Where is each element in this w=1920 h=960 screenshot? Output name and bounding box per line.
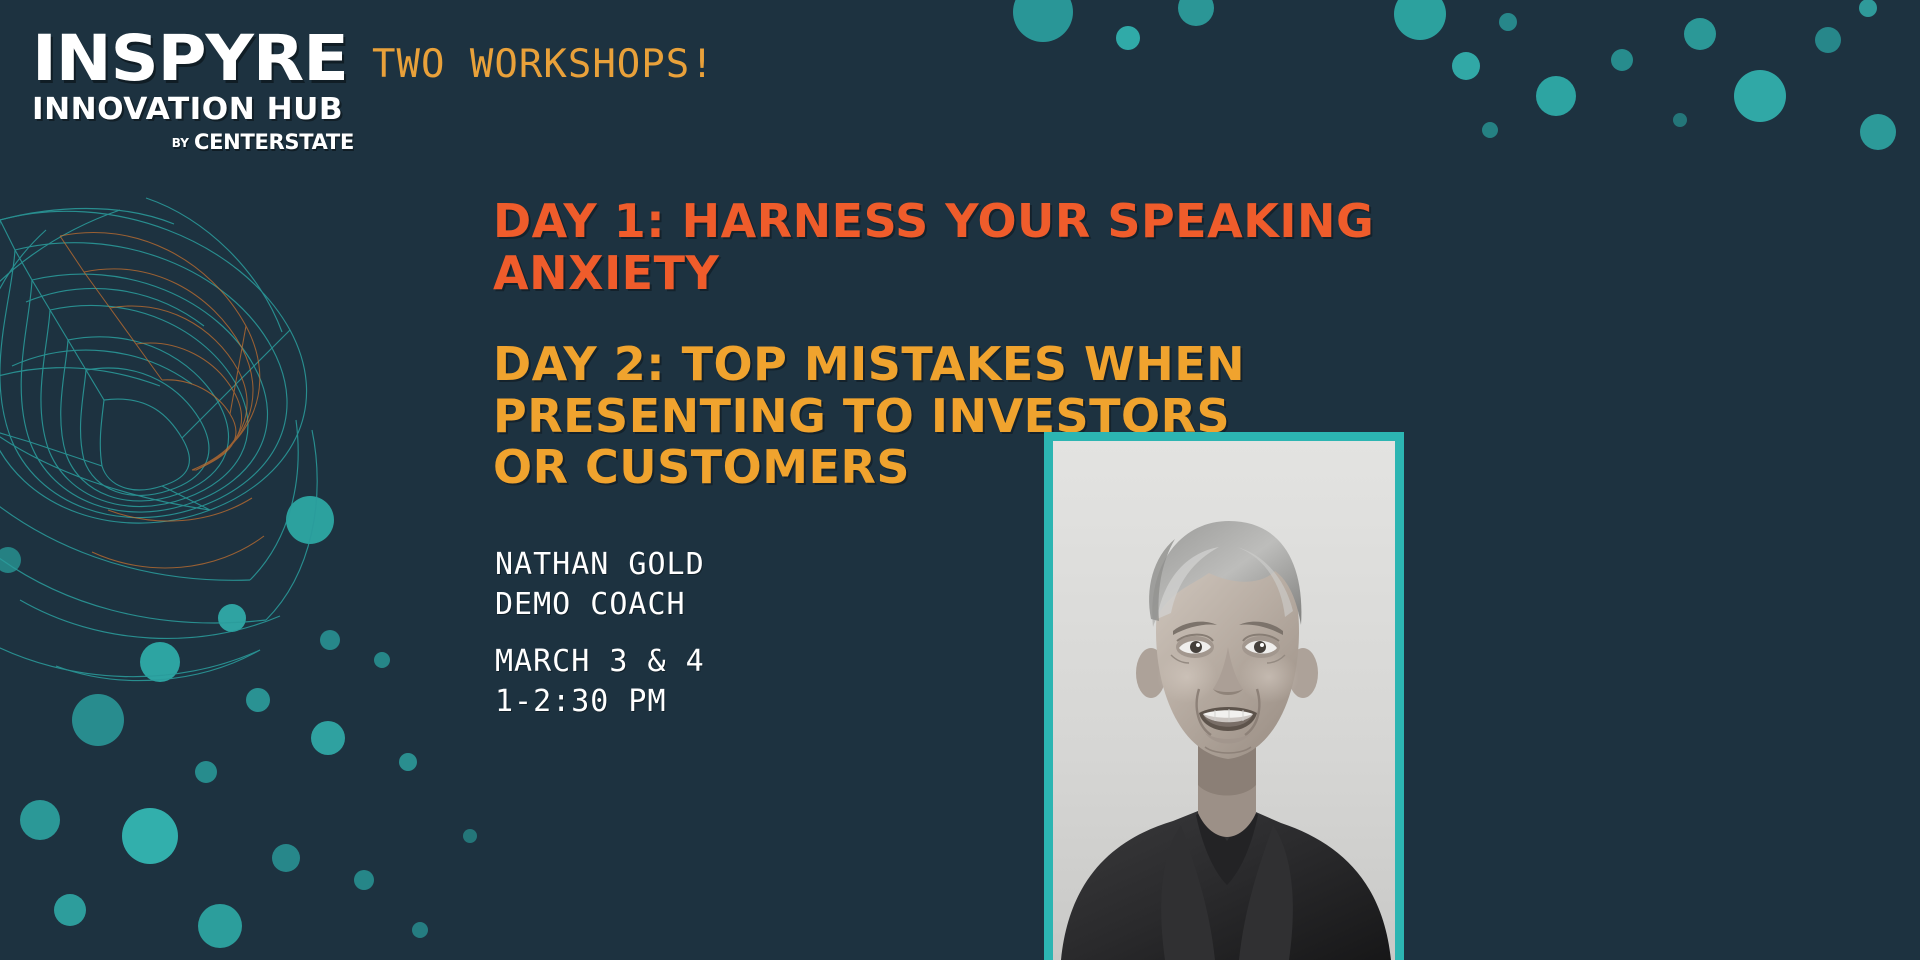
logo-parent-brand: CENTERSTATE (194, 130, 354, 154)
bokeh-dot (1536, 76, 1576, 116)
bokeh-dot (122, 808, 178, 864)
bokeh-dot (1499, 13, 1517, 31)
speaker-name: NATHAN GOLD (495, 545, 705, 585)
bokeh-dot (1860, 114, 1896, 150)
speaker-portrait-frame (1044, 432, 1404, 960)
logo-wordmark: INSPYRE (32, 28, 373, 90)
day1-headline-line1: DAY 1: HARNESS YOUR SPEAKING (493, 196, 1453, 248)
event-time: 1-2:30 PM (495, 682, 705, 722)
bokeh-dot (1452, 52, 1480, 80)
bokeh-dot (1013, 0, 1073, 42)
bokeh-dot (198, 904, 242, 948)
bokeh-dot (272, 844, 300, 872)
wireframe-mesh-decoration (0, 180, 480, 740)
bokeh-dot (195, 761, 217, 783)
logo-tagline: INNOVATION HUB (32, 92, 360, 127)
bokeh-dot (1116, 26, 1140, 50)
speaker-portrait-illustration (1053, 441, 1395, 960)
inspyre-logo: INSPYRE INNOVATION HUB BY CENTERSTATE (32, 28, 354, 154)
bokeh-dot (1394, 0, 1446, 40)
event-date: MARCH 3 & 4 (495, 642, 705, 682)
bokeh-dot (20, 800, 60, 840)
bokeh-dot (399, 753, 417, 771)
event-date-block: MARCH 3 & 4 1-2:30 PM (495, 642, 705, 722)
bokeh-dot (463, 829, 477, 843)
two-workshops-label: TWO WORKSHOPS! (372, 42, 715, 87)
day2-headline-line1: DAY 2: TOP MISTAKES WHEN (493, 339, 1453, 391)
bokeh-dot (1178, 0, 1214, 26)
speaker-block: NATHAN GOLD DEMO COACH (495, 545, 705, 625)
day1-headline-line2: ANXIETY (493, 248, 1453, 300)
bokeh-dot (1611, 49, 1633, 71)
bokeh-dot (1684, 18, 1716, 50)
logo-by-label: BY (172, 136, 189, 150)
bokeh-dot (354, 870, 374, 890)
speaker-title: DEMO COACH (495, 585, 705, 625)
day1-headline: DAY 1: HARNESS YOUR SPEAKING ANXIETY (493, 196, 1453, 299)
logo-byline: BY CENTERSTATE (32, 130, 354, 154)
speaker-portrait (1053, 441, 1395, 960)
bokeh-dot (1734, 70, 1786, 122)
poster-canvas: INSPYRE INNOVATION HUB BY CENTERSTATE TW… (0, 0, 1920, 960)
bokeh-dot (1815, 27, 1841, 53)
bokeh-dot (1482, 122, 1498, 138)
bokeh-dot (1673, 113, 1687, 127)
bokeh-dot (54, 894, 86, 926)
bokeh-dot (1859, 0, 1877, 17)
bokeh-dot (412, 922, 428, 938)
